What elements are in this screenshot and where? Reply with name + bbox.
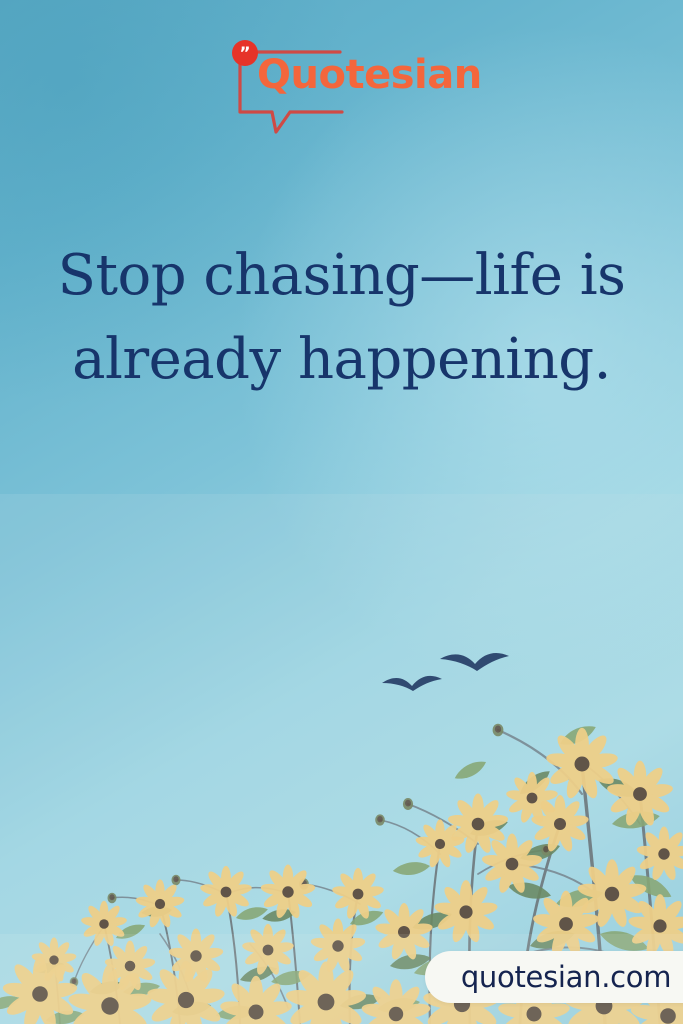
logo-wordmark: Quotesian [257,52,482,98]
website-pill[interactable]: quotesian.com [425,951,683,1003]
flower-foliage-scene [0,494,683,1024]
quote-text: Stop chasing—life is already happening. [0,234,683,402]
quotesian-logo[interactable]: ” Quotesian [232,40,462,140]
website-url: quotesian.com [461,960,671,994]
quote-line-2: already happening. [34,318,649,402]
quote-line-1: Stop chasing—life is [34,234,649,318]
quote-poster: ” Quotesian Stop chasing—life is already… [0,0,683,1024]
quote-badge-glyph: ” [239,44,250,64]
